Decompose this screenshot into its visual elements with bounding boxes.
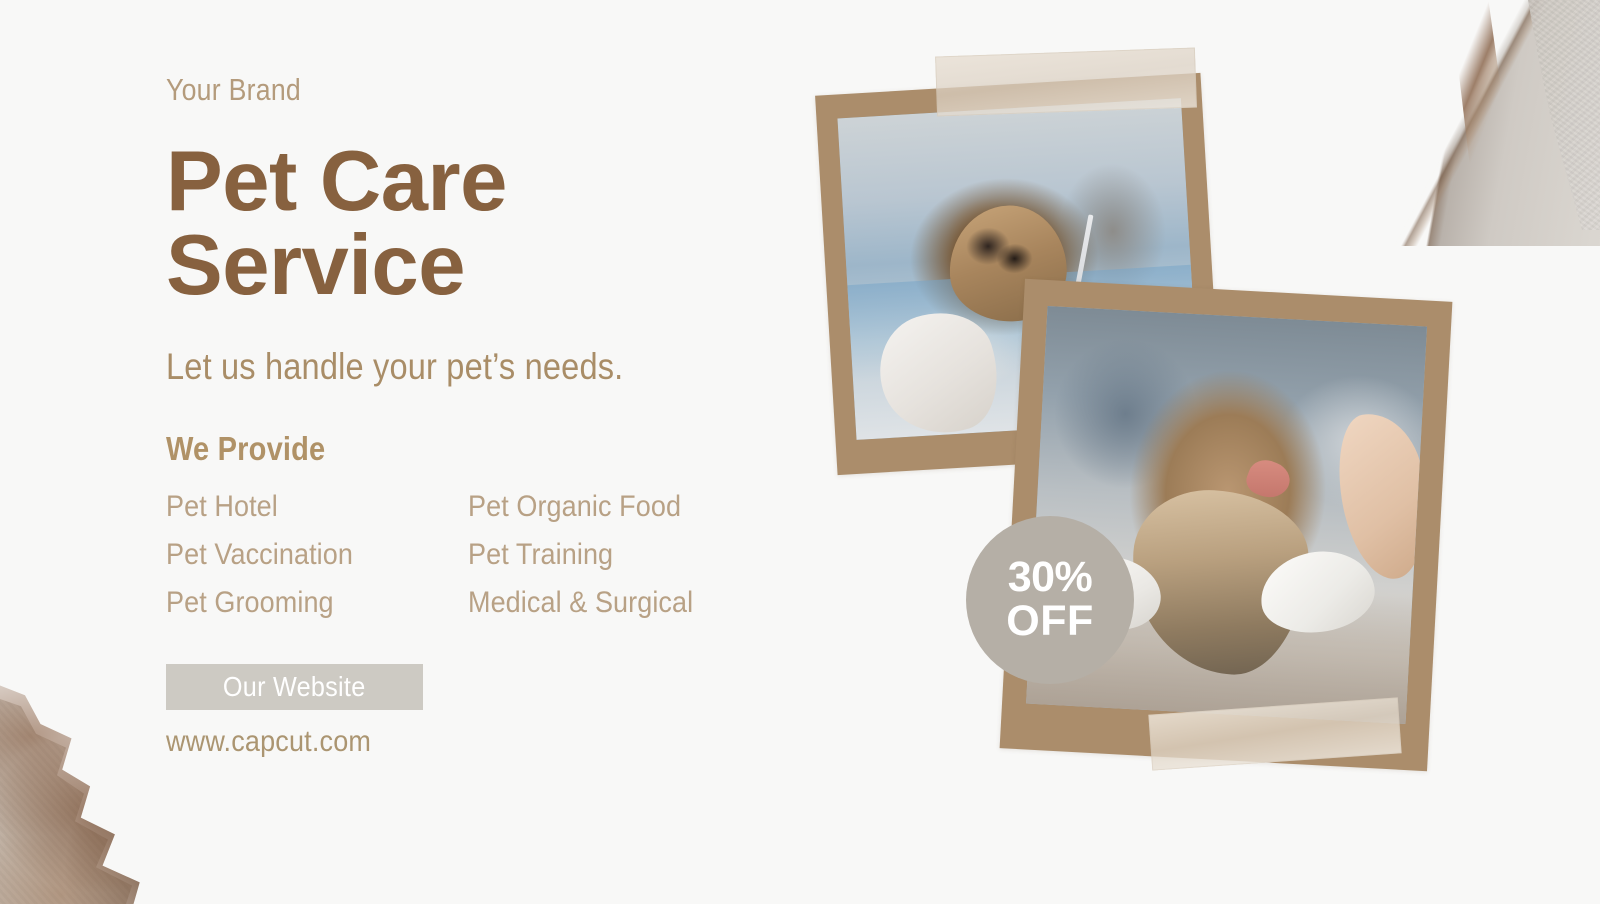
service-item: Pet Vaccination bbox=[166, 538, 438, 572]
headline-line-1: Pet Care bbox=[166, 140, 786, 224]
brand-name: Your Brand bbox=[166, 72, 699, 108]
service-item: Pet Organic Food bbox=[468, 490, 754, 524]
services-heading: We Provide bbox=[166, 430, 712, 468]
page-title: Pet Care Service bbox=[166, 140, 786, 308]
washi-tape-top bbox=[935, 47, 1197, 116]
discount-badge: 30% OFF bbox=[966, 516, 1134, 684]
our-website-button[interactable]: Our Website bbox=[166, 664, 423, 710]
our-website-button-label: Our Website bbox=[223, 671, 366, 703]
discount-percent: 30% bbox=[1008, 556, 1093, 600]
photo-collage: 30% OFF bbox=[790, 0, 1600, 900]
content-column: Your Brand Pet Care Service Let us handl… bbox=[166, 72, 786, 759]
service-item: Pet Grooming bbox=[166, 586, 438, 620]
headline-line-2: Service bbox=[166, 224, 786, 308]
service-item: Medical & Surgical bbox=[468, 586, 754, 620]
discount-label: OFF bbox=[1006, 600, 1093, 644]
website-url[interactable]: www.capcut.com bbox=[166, 725, 724, 759]
service-item: Pet Hotel bbox=[166, 490, 438, 524]
services-list: Pet Hotel Pet Organic Food Pet Vaccinati… bbox=[166, 490, 786, 620]
service-item: Pet Training bbox=[468, 538, 754, 572]
tagline: Let us handle your pet’s needs. bbox=[166, 346, 712, 388]
